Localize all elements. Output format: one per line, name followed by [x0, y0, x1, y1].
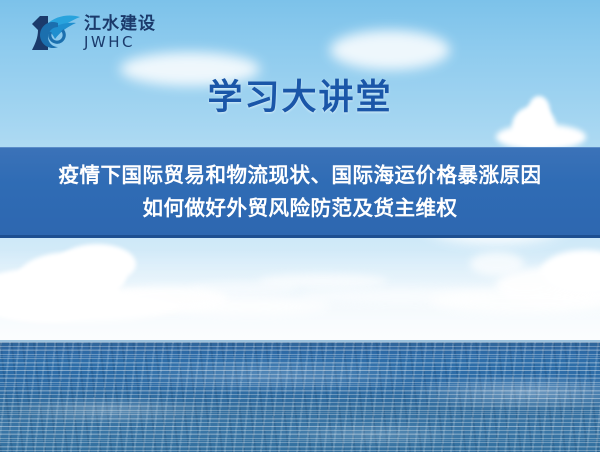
page-title: 学习大讲堂	[0, 76, 600, 120]
cloud-wisp	[188, 282, 298, 294]
logo-text: 江水建设 JWHC	[84, 14, 156, 51]
jwhc-wing-logo-icon	[26, 12, 82, 60]
company-logo: 江水建设 JWHC	[26, 12, 206, 58]
subtitle-line-2: 如何做好外贸风险防范及货主维权	[143, 192, 458, 225]
logo-company-name-en: JWHC	[84, 34, 156, 51]
ocean-background	[0, 342, 600, 452]
cloud-puff	[170, 296, 330, 316]
logo-company-name-cn: 江水建设	[84, 14, 156, 34]
ocean-sun-glint	[0, 342, 600, 452]
poster-canvas: 江水建设 JWHC 学习大讲堂 疫情下国际贸易和物流现状、国际海运价格暴涨原因 …	[0, 0, 600, 452]
subtitle-line-1: 疫情下国际贸易和物流现状、国际海运价格暴涨原因	[59, 159, 542, 192]
cloud-wisp	[330, 30, 450, 70]
subtitle-banner: 疫情下国际贸易和物流现状、国际海运价格暴涨原因 如何做好外贸风险防范及货主维权	[0, 147, 600, 238]
